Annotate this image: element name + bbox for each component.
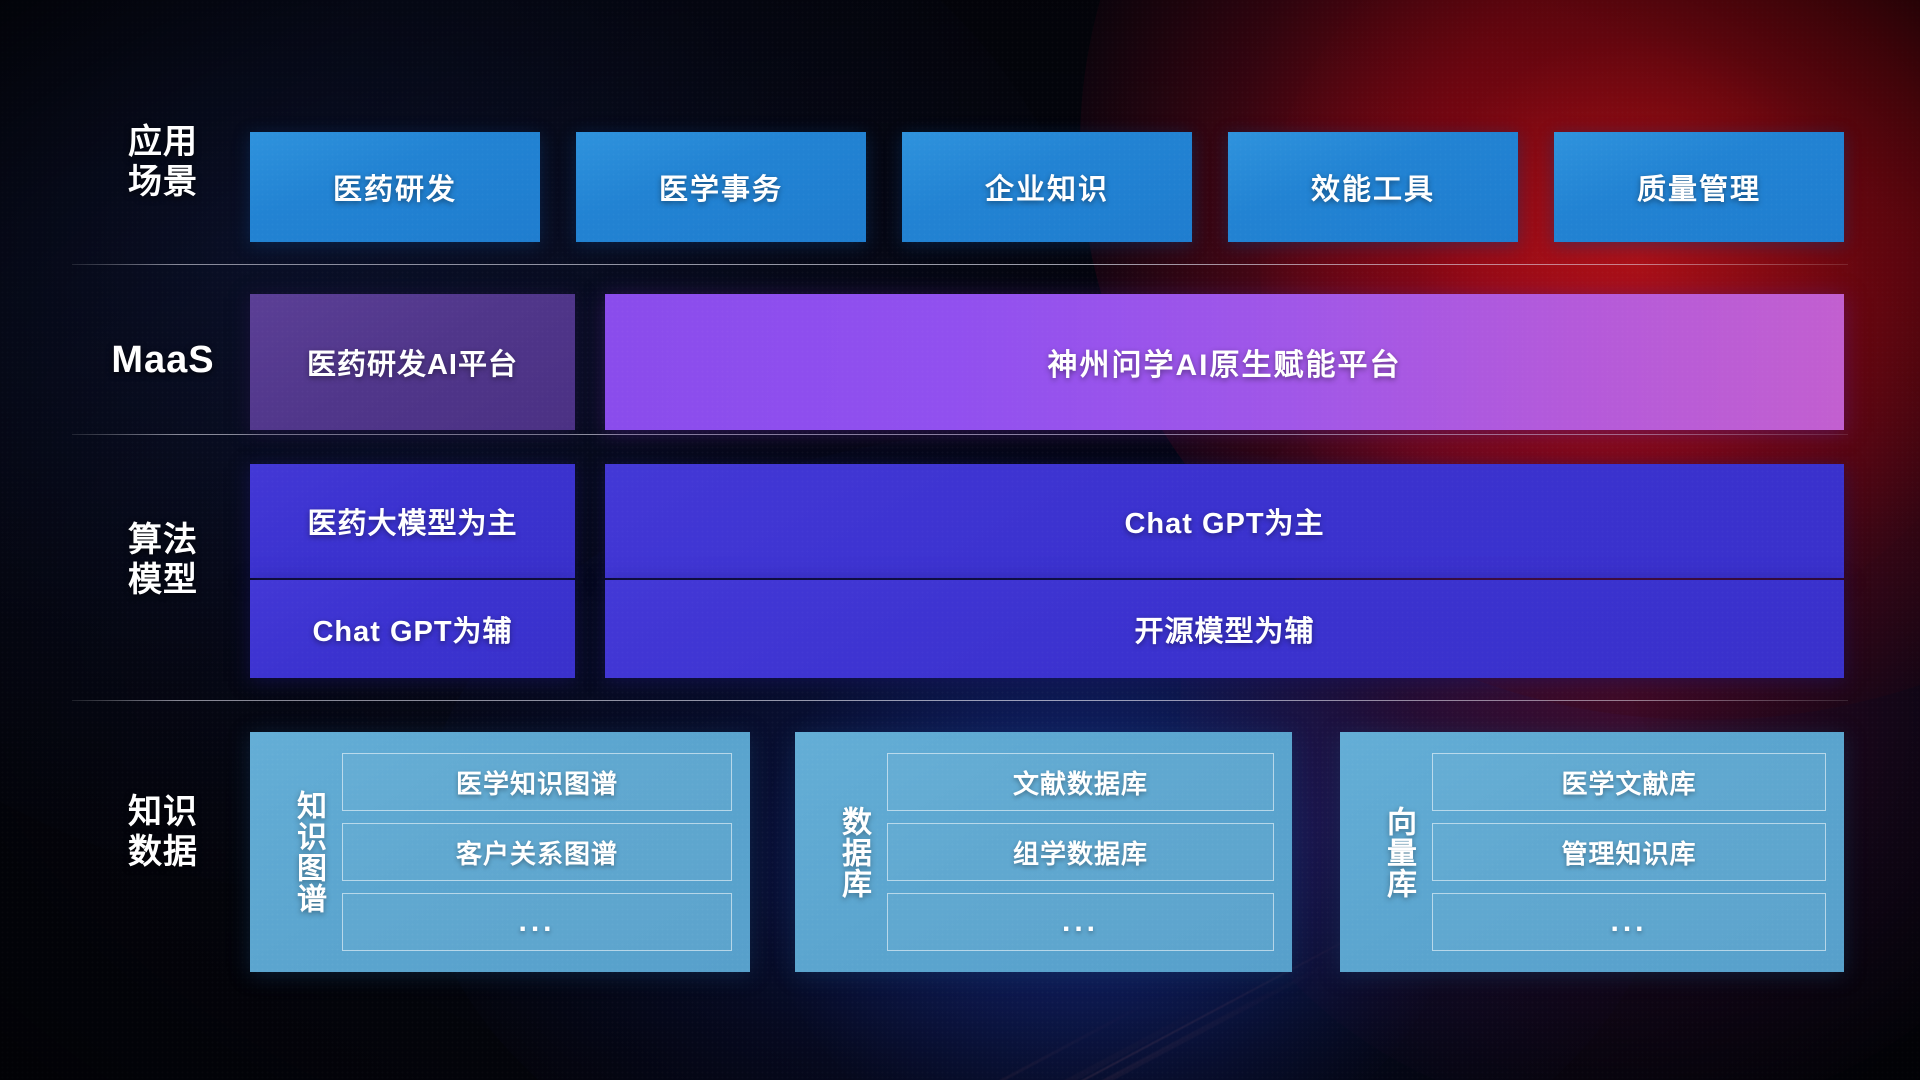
- row-label-maas: MaaS: [88, 338, 238, 383]
- maas-box-label: 神州问学AI原生赋能平台: [1048, 340, 1402, 384]
- knowledge-panel-vertical-label: 知识图谱: [272, 790, 328, 914]
- row-label-line: 场景: [88, 162, 238, 202]
- row-label-algorithm-model: 算法 模型: [88, 520, 238, 600]
- app-box-pharma-rnd[interactable]: 医药研发: [250, 132, 540, 242]
- algo-box-label: 医药大模型为主: [307, 500, 517, 542]
- row-label-knowledge-data: 知识 数据: [88, 792, 238, 872]
- app-box-label: 医学事务: [659, 166, 783, 208]
- row-label-line: 算法: [88, 520, 238, 560]
- app-box-label: 医药研发: [333, 166, 457, 208]
- row-label-line: 数据: [88, 832, 238, 872]
- app-box-label: 质量管理: [1637, 166, 1761, 208]
- knowledge-panel-vertical-label: 数据库: [817, 806, 873, 899]
- divider-1: [72, 264, 1848, 265]
- knowledge-item[interactable]: ...: [1432, 893, 1826, 951]
- knowledge-item[interactable]: 管理知识库: [1432, 823, 1826, 881]
- algo-box-opensource-secondary[interactable]: 开源模型为辅: [605, 580, 1844, 678]
- maas-box-label: 医药研发AI平台: [307, 341, 518, 383]
- app-box-label: 企业知识: [985, 166, 1109, 208]
- maas-box-pharma-ai-platform[interactable]: 医药研发AI平台: [250, 294, 575, 430]
- divider-2: [72, 434, 1848, 435]
- knowledge-item-list: 医学文献库 管理知识库 ...: [1432, 753, 1826, 951]
- algo-box-label: 开源模型为辅: [1134, 608, 1314, 650]
- app-box-enterprise-knowledge[interactable]: 企业知识: [902, 132, 1192, 242]
- knowledge-item[interactable]: 文献数据库: [887, 753, 1274, 811]
- app-box-efficiency-tools[interactable]: 效能工具: [1228, 132, 1518, 242]
- algo-box-pharma-llm-primary[interactable]: 医药大模型为主: [250, 464, 575, 578]
- app-box-label: 效能工具: [1311, 166, 1435, 208]
- knowledge-panel-database[interactable]: 数据库 文献数据库 组学数据库 ...: [795, 732, 1292, 972]
- knowledge-item[interactable]: ...: [342, 893, 732, 951]
- row-label-line: MaaS: [88, 338, 238, 383]
- algo-box-label: Chat GPT为主: [1124, 500, 1324, 542]
- row-label-line: 模型: [88, 560, 238, 600]
- knowledge-item[interactable]: ...: [887, 893, 1274, 951]
- algo-box-chatgpt-secondary[interactable]: Chat GPT为辅: [250, 580, 575, 678]
- knowledge-panel-knowledge-graph[interactable]: 知识图谱 医学知识图谱 客户关系图谱 ...: [250, 732, 750, 972]
- row-label-line: 知识: [88, 792, 238, 832]
- knowledge-item[interactable]: 医学文献库: [1432, 753, 1826, 811]
- knowledge-item-list: 医学知识图谱 客户关系图谱 ...: [342, 753, 732, 951]
- row-label-line: 应用: [88, 122, 238, 162]
- knowledge-item-list: 文献数据库 组学数据库 ...: [887, 753, 1274, 951]
- app-box-quality-management[interactable]: 质量管理: [1554, 132, 1844, 242]
- app-box-medical-affairs[interactable]: 医学事务: [576, 132, 866, 242]
- knowledge-item[interactable]: 组学数据库: [887, 823, 1274, 881]
- knowledge-item[interactable]: 医学知识图谱: [342, 753, 732, 811]
- maas-box-shenzhou-wenxue-platform[interactable]: 神州问学AI原生赋能平台: [605, 294, 1844, 430]
- algo-box-label: Chat GPT为辅: [312, 608, 512, 650]
- knowledge-item[interactable]: 客户关系图谱: [342, 823, 732, 881]
- knowledge-panel-vertical-label: 向量库: [1362, 806, 1418, 899]
- architecture-diagram: 应用 场景 医药研发 医学事务 企业知识 效能工具 质量管理 MaaS 医药研发…: [0, 0, 1920, 1080]
- row-label-application-scenario: 应用 场景: [88, 122, 238, 202]
- knowledge-panel-vector-store[interactable]: 向量库 医学文献库 管理知识库 ...: [1340, 732, 1844, 972]
- divider-3: [72, 700, 1848, 701]
- algo-box-chatgpt-primary[interactable]: Chat GPT为主: [605, 464, 1844, 578]
